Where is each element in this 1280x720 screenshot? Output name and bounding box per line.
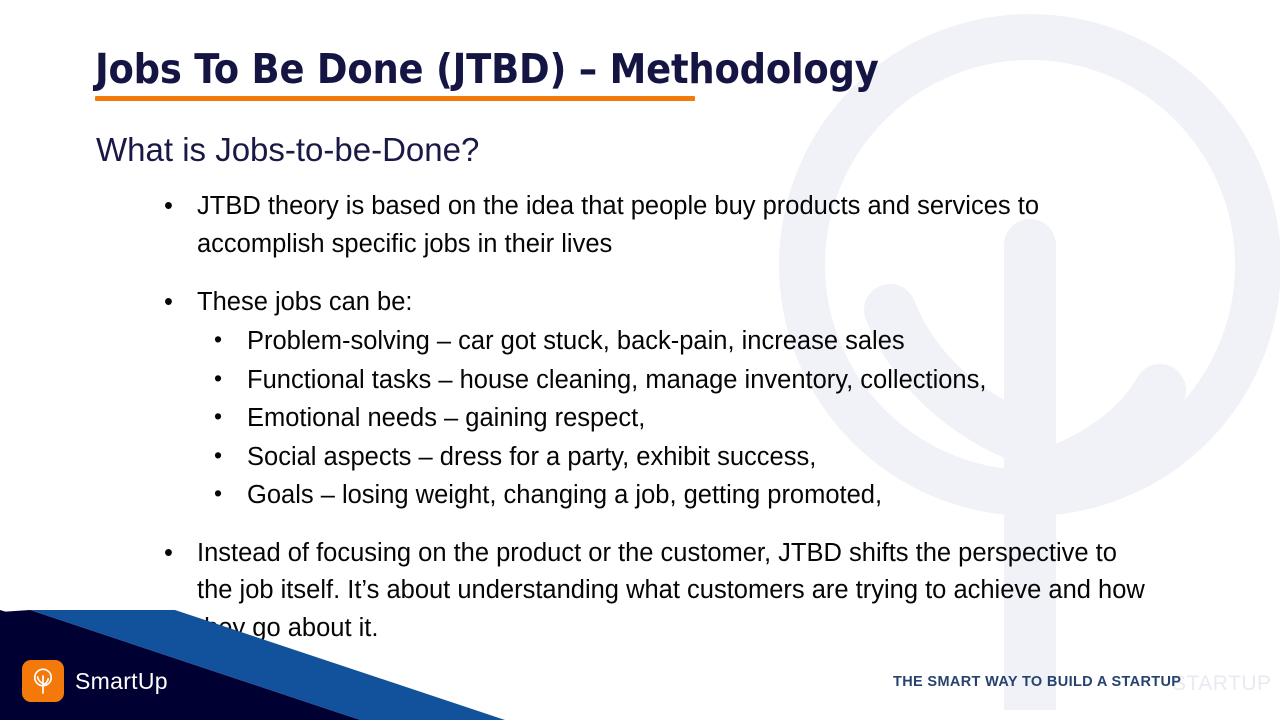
- page-title: Jobs To Be Done (JTBD) – Methodology: [95, 48, 879, 91]
- brand-wordmark: SmartUp: [75, 668, 168, 695]
- bullet-item: • Instead of focusing on the product or …: [155, 535, 1157, 648]
- sub-bullet-item: • Functional tasks – house cleaning, man…: [203, 361, 1215, 400]
- sub-bullet-text: Emotional needs – gaining respect,: [247, 404, 645, 432]
- sub-bullet-text: Social aspects – dress for a party, exhi…: [247, 443, 816, 471]
- tree-icon: [28, 666, 58, 696]
- bullet-glyph: •: [214, 476, 222, 511]
- sub-bullet-item: • Goals – losing weight, changing a job,…: [203, 476, 1215, 515]
- sub-bullet-text: Functional tasks – house cleaning, manag…: [247, 366, 986, 394]
- sub-bullet-text: Problem-solving – car got stuck, back-pa…: [247, 327, 905, 355]
- slide-subtitle: What is Jobs-to-be-Done?: [96, 131, 479, 169]
- sub-bullet-item: • Emotional needs – gaining respect,: [203, 399, 1215, 438]
- brand-lockup: SmartUp: [22, 660, 168, 702]
- bullet-glyph: •: [164, 188, 173, 226]
- bullet-glyph: •: [164, 535, 173, 573]
- sub-bullet-item: • Social aspects – dress for a party, ex…: [203, 438, 1215, 477]
- content-body: • JTBD theory is based on the idea that …: [155, 188, 1215, 669]
- sub-bullet-item: • Problem-solving – car got stuck, back-…: [203, 322, 1215, 361]
- bullet-text: JTBD theory is based on the idea that pe…: [197, 192, 1039, 258]
- sub-bullet-text: Goals – losing weight, changing a job, g…: [247, 481, 882, 509]
- title-block: Jobs To Be Done (JTBD) – Methodology: [95, 48, 879, 101]
- slide: Jobs To Be Done (JTBD) – Methodology Wha…: [0, 0, 1280, 720]
- bullet-item: • JTBD theory is based on the idea that …: [155, 188, 1157, 263]
- title-underline-rule: [95, 96, 695, 101]
- tagline-watermark: STARTUP: [1172, 672, 1272, 696]
- bullet-glyph: •: [214, 322, 222, 357]
- footer-tagline: THE SMART WAY TO BUILD A STARTUP: [893, 674, 1181, 690]
- bullet-text: Instead of focusing on the product or th…: [197, 539, 1145, 642]
- smartup-logo-icon: [22, 660, 64, 702]
- sub-bullet-list: • Problem-solving – car got stuck, back-…: [155, 322, 1215, 515]
- bullet-glyph: •: [214, 361, 222, 396]
- bullet-glyph: •: [164, 284, 173, 322]
- bullet-glyph: •: [214, 399, 222, 434]
- bullet-item: • These jobs can be:: [155, 284, 1157, 322]
- bullet-text: These jobs can be:: [197, 288, 412, 316]
- bullet-glyph: •: [214, 438, 222, 473]
